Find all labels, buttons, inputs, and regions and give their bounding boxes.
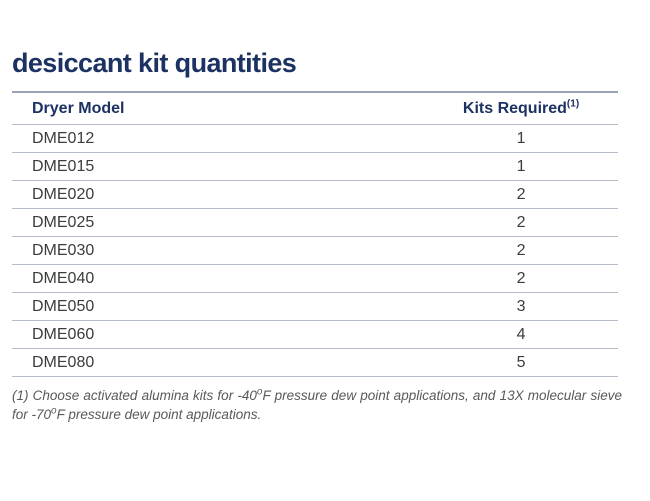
cell-kits-required: 4: [424, 321, 618, 349]
cell-dryer-model: DME020: [12, 181, 424, 209]
cell-kits-required: 2: [424, 237, 618, 265]
cell-kits-required: 3: [424, 293, 618, 321]
cell-dryer-model: DME060: [12, 321, 424, 349]
cell-kits-required: 1: [424, 125, 618, 153]
footnote-text-part-1: (1) Choose activated alumina kits for -4…: [12, 388, 257, 403]
cell-kits-required: 2: [424, 181, 618, 209]
table-row: DME025 2: [12, 209, 618, 237]
table-row: DME012 1: [12, 125, 618, 153]
cell-dryer-model: DME050: [12, 293, 424, 321]
cell-kits-required: 2: [424, 265, 618, 293]
cell-dryer-model: DME015: [12, 153, 424, 181]
cell-dryer-model: DME025: [12, 209, 424, 237]
document-page: desiccant kit quantities Dryer Model Kit…: [0, 0, 650, 501]
cell-kits-required: 1: [424, 153, 618, 181]
cell-dryer-model: DME030: [12, 237, 424, 265]
cell-dryer-model: DME012: [12, 125, 424, 153]
desiccant-kit-table-container: Dryer Model Kits Required(1) DME012 1 DM…: [12, 91, 618, 377]
page-title: desiccant kit quantities: [12, 50, 296, 77]
table-row: DME040 2: [12, 265, 618, 293]
table-row: DME080 5: [12, 349, 618, 377]
column-header-kits-required-label: Kits Required: [463, 100, 567, 117]
table-body: DME012 1 DME015 1 DME020 2 DME025 2 DME0…: [12, 125, 618, 377]
cell-dryer-model: DME040: [12, 265, 424, 293]
table-row: DME050 3: [12, 293, 618, 321]
cell-kits-required: 2: [424, 209, 618, 237]
column-header-dryer-model: Dryer Model: [12, 93, 424, 125]
column-header-footnote-marker: (1): [567, 98, 579, 109]
table-footnote: (1) Choose activated alumina kits for -4…: [12, 386, 622, 424]
desiccant-kit-table: Dryer Model Kits Required(1) DME012 1 DM…: [12, 93, 618, 377]
table-row: DME030 2: [12, 237, 618, 265]
cell-kits-required: 5: [424, 349, 618, 377]
table-header: Dryer Model Kits Required(1): [12, 93, 618, 125]
table-row: DME015 1: [12, 153, 618, 181]
cell-dryer-model: DME080: [12, 349, 424, 377]
column-header-kits-required: Kits Required(1): [424, 93, 618, 125]
table-row: DME060 4: [12, 321, 618, 349]
table-header-row: Dryer Model Kits Required(1): [12, 93, 618, 125]
footnote-text-part-3: F pressure dew point applications.: [57, 407, 262, 422]
table-row: DME020 2: [12, 181, 618, 209]
